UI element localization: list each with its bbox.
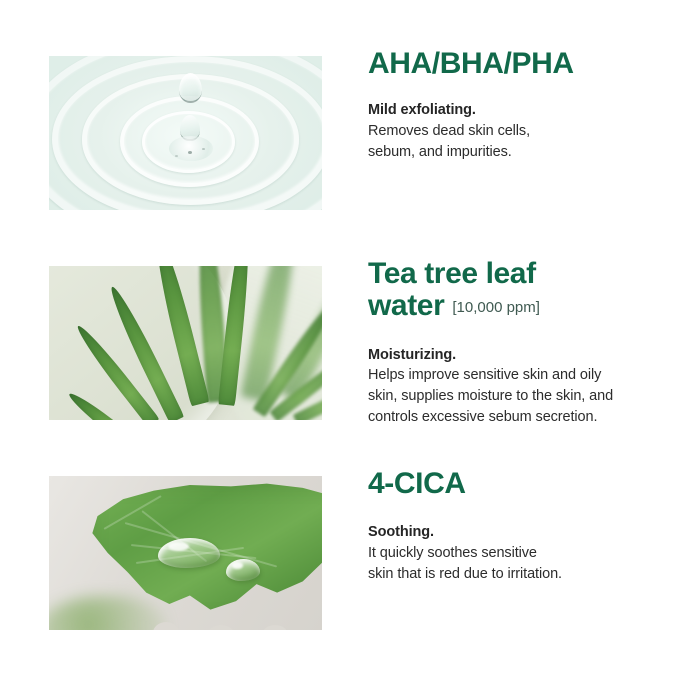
ingredient-benefits-panel: AHA/BHA/PHA Mild exfoliating. Removes de…	[0, 0, 679, 679]
feature-image-tea-tree-leaves	[49, 266, 322, 420]
feature-text-tea-tree-leaf-water: Tea tree leaf water[10,000 ppm] Moisturi…	[368, 258, 658, 427]
feature-body-4-cica: Soothing. It quickly soothes sensitive s…	[368, 522, 658, 584]
background-leaf-blur	[49, 596, 164, 630]
feature-lede-tea-tree-leaf-water: Moisturizing.	[368, 345, 658, 366]
feature-heading-note-ppm: [10,000 ppm]	[452, 299, 540, 316]
feature-description-line: skin, supplies moisture to the skin, and	[368, 386, 658, 407]
feature-body-tea-tree-leaf-water: Moisturizing. Helps improve sensitive sk…	[368, 345, 658, 427]
feature-row-4-cica: 4-CICA Soothing. It quickly soothes sens…	[0, 0, 679, 225]
water-droplet-small-icon	[226, 559, 260, 581]
feature-heading-4-cica: 4-CICA	[368, 468, 658, 500]
feature-description-line: controls excessive sebum secretion.	[368, 407, 658, 428]
feature-description-line: Helps improve sensitive skin and oily	[368, 365, 658, 386]
feature-description-line: skin that is red due to irritation.	[368, 564, 658, 585]
water-droplet-large-icon	[158, 538, 220, 568]
feature-description-line: It quickly soothes sensitive	[368, 543, 658, 564]
feature-image-centella-leaf	[49, 476, 322, 630]
leaf-edge-notch	[262, 625, 288, 630]
leaf-edge-notch	[207, 625, 235, 630]
centella-leaf-icon	[49, 476, 322, 630]
feature-text-4-cica: 4-CICA Soothing. It quickly soothes sens…	[368, 468, 658, 584]
tea-tree-leaves-icon	[49, 266, 322, 420]
feature-heading-tea-tree-leaf-water: Tea tree leaf water[10,000 ppm]	[368, 258, 658, 323]
feature-lede-4-cica: Soothing.	[368, 522, 658, 543]
